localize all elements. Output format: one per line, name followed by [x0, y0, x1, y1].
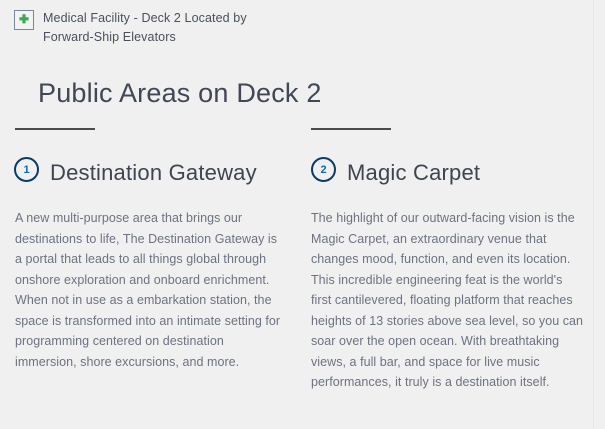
- public-area-heading: 1 Destination Gateway: [14, 152, 282, 194]
- amenity-label: Medical Facility - Deck 2 Located by For…: [43, 9, 275, 47]
- deck-info-page: Medical Facility - Deck 2 Located by For…: [0, 0, 605, 429]
- public-area-title: Destination Gateway: [50, 152, 257, 194]
- public-area-item-2: 2 Magic Carpet The highlight of our outw…: [300, 128, 605, 393]
- public-area-item-1: 1 Destination Gateway A new multi-purpos…: [0, 128, 300, 393]
- section-divider: [311, 128, 391, 130]
- amenity-medical-facility: Medical Facility - Deck 2 Located by For…: [14, 9, 275, 47]
- page-title: Public Areas on Deck 2: [38, 76, 322, 110]
- area-number-badge: 2: [311, 157, 336, 182]
- section-divider: [15, 128, 95, 130]
- public-area-heading: 2 Magic Carpet: [301, 152, 585, 194]
- public-area-title: Magic Carpet: [347, 152, 480, 194]
- public-area-description: The highlight of our outward-facing visi…: [301, 208, 585, 393]
- public-area-description: A new multi-purpose area that brings our…: [14, 208, 282, 372]
- medical-cross-icon: [14, 10, 34, 30]
- area-number-badge: 1: [14, 157, 39, 182]
- public-areas-columns: 1 Destination Gateway A new multi-purpos…: [0, 128, 605, 393]
